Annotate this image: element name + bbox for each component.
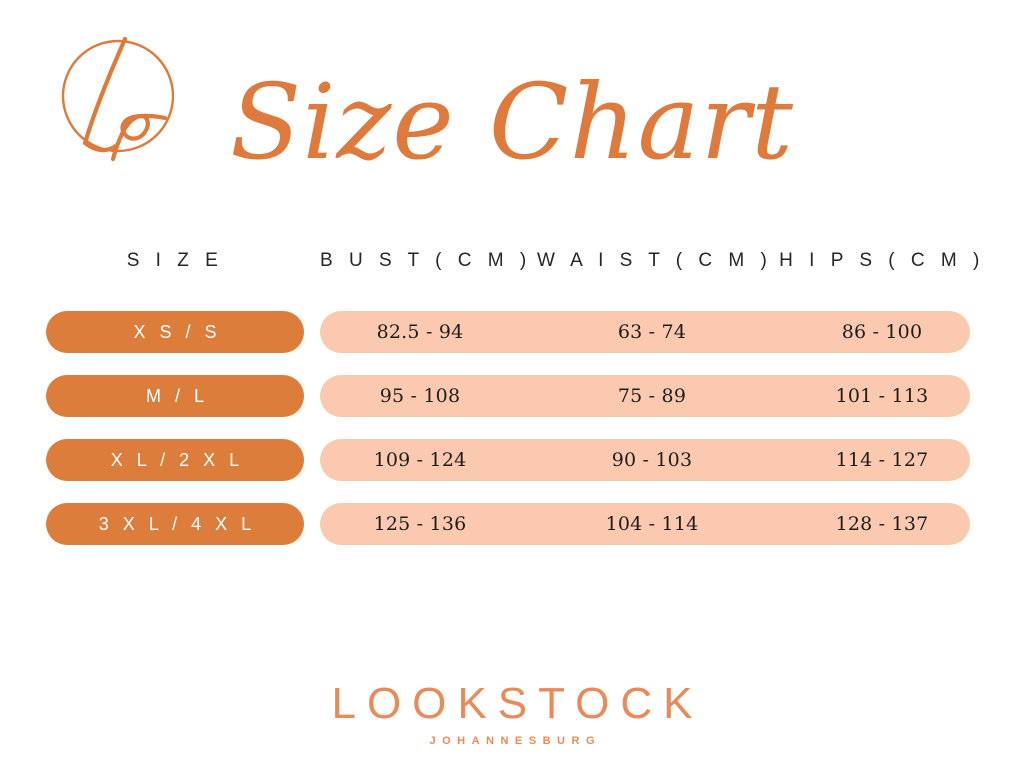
- cell-bust: 82.5 - 94: [320, 311, 520, 353]
- column-header-waist: W A I S T ( C M ): [537, 248, 767, 274]
- cell-hips: 86 - 100: [778, 311, 986, 353]
- cell-waist: 104 - 114: [537, 503, 767, 545]
- cell-hips: 114 - 127: [778, 439, 986, 481]
- cell-bust: 95 - 108: [320, 375, 520, 417]
- measurements-pill: 125 - 136 104 - 114 128 - 137: [320, 503, 970, 545]
- size-label-pill: M / L: [46, 375, 304, 417]
- table-body: X S / S 82.5 - 94 63 - 74 86 - 100 M / L…: [0, 311, 1024, 567]
- cell-bust: 109 - 124: [320, 439, 520, 481]
- cell-hips: 101 - 113: [778, 375, 986, 417]
- cell-bust: 125 - 136: [320, 503, 520, 545]
- column-header-hips: H I P S ( C M ): [778, 248, 986, 274]
- cell-hips: 128 - 137: [778, 503, 986, 545]
- cell-waist: 90 - 103: [537, 439, 767, 481]
- measurements-pill: 95 - 108 75 - 89 101 - 113: [320, 375, 970, 417]
- brand-name: LOOKSTOCK: [0, 680, 1024, 728]
- size-chart-table: S I Z E B U S T ( C M ) W A I S T ( C M …: [0, 0, 1024, 768]
- table-row: 3 X L / 4 X L 125 - 136 104 - 114 128 - …: [0, 503, 1024, 545]
- table-row: X S / S 82.5 - 94 63 - 74 86 - 100: [0, 311, 1024, 353]
- measurements-pill: 82.5 - 94 63 - 74 86 - 100: [320, 311, 970, 353]
- cell-waist: 63 - 74: [537, 311, 767, 353]
- table-header-row: S I Z E B U S T ( C M ) W A I S T ( C M …: [0, 248, 1024, 278]
- measurements-pill: 109 - 124 90 - 103 114 - 127: [320, 439, 970, 481]
- size-label-pill: 3 X L / 4 X L: [46, 503, 304, 545]
- table-row: X L / 2 X L 109 - 124 90 - 103 114 - 127: [0, 439, 1024, 481]
- brand-footer: LOOKSTOCK JOHANNESBURG: [0, 680, 1024, 748]
- size-label-pill: X S / S: [46, 311, 304, 353]
- size-chart-page: { "colors": { "accent_orange": "#DD7D3C"…: [0, 0, 1024, 768]
- table-row: M / L 95 - 108 75 - 89 101 - 113: [0, 375, 1024, 417]
- column-header-size: S I Z E: [46, 248, 304, 274]
- column-header-bust: B U S T ( C M ): [320, 248, 520, 274]
- brand-location: JOHANNESBURG: [0, 734, 1024, 748]
- size-label-pill: X L / 2 X L: [46, 439, 304, 481]
- cell-waist: 75 - 89: [537, 375, 767, 417]
